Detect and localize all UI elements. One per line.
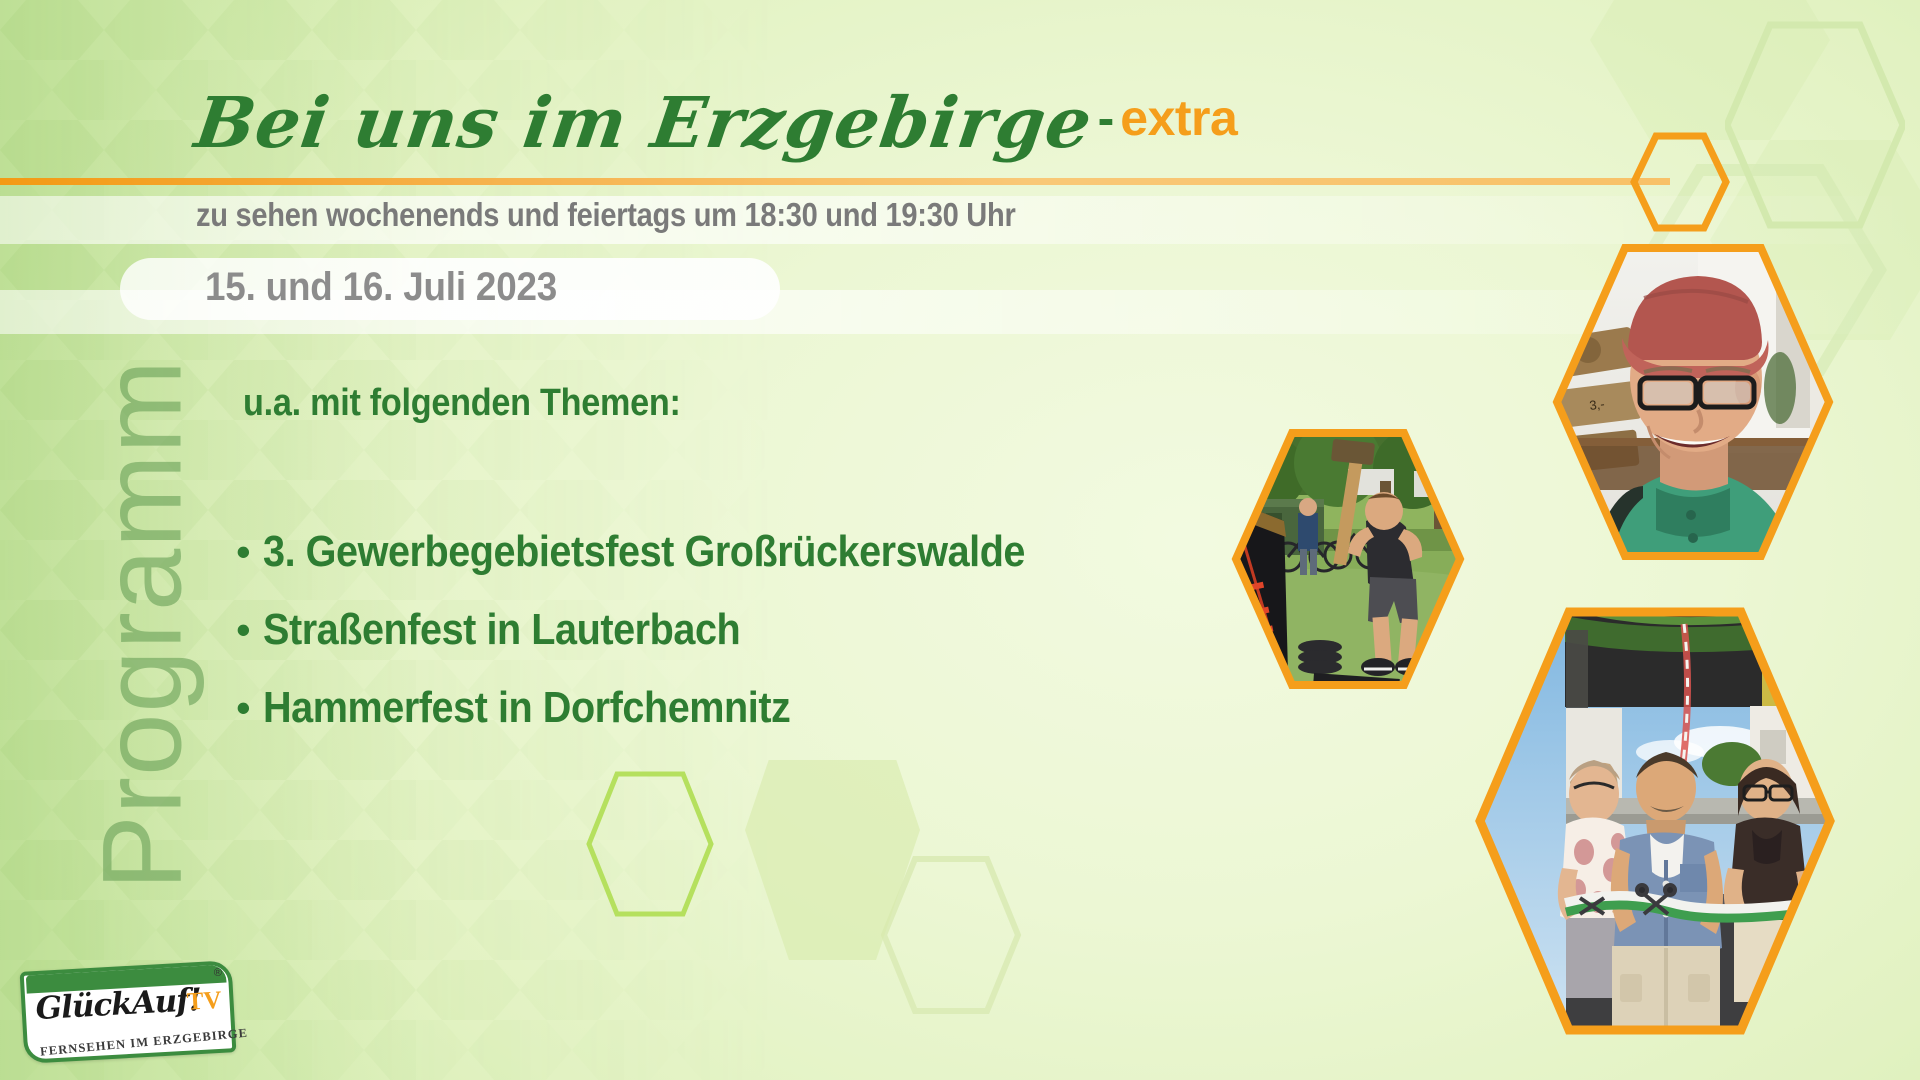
title-end-hexagon-icon — [1628, 130, 1732, 234]
broadcast-date: 15. und 16. Juli 2023 — [205, 265, 557, 310]
title-underline-rule — [0, 178, 1670, 185]
svg-text:3,-: 3,- — [1589, 396, 1606, 413]
list-item: • Hammerfest in Dorfchemnitz — [236, 683, 1109, 733]
photo-ribbon-cutting — [1470, 602, 1840, 1040]
topic-label: Hammerfest in Dorfchemnitz — [263, 683, 790, 733]
list-item: • 3. Gewerbegebietsfest Großrückerswalde — [236, 527, 1109, 577]
title-dash: - — [1092, 90, 1121, 146]
themes-heading: u.a. mit folgenden Themen: — [243, 382, 681, 425]
channel-logo[interactable]: ® GlückAuf! TV FERNSEHEN IM ERZGEBIRGE — [20, 960, 237, 1064]
logo-tv-suffix: TV — [186, 987, 222, 1017]
topic-label: Straßenfest in Lauterbach — [263, 605, 740, 655]
broadcast-times-subtitle: zu sehen wochenends und feiertags um 18:… — [196, 196, 1016, 234]
bullet-dot-icon: • — [236, 531, 251, 573]
topics-list: • 3. Gewerbegebietsfest Großrückerswalde… — [236, 527, 1109, 761]
page-title: Bei uns im Erzgebirge-extra — [196, 88, 1237, 158]
broadcast-program-slide: Programm Bei uns im Erzgebirge-extra zu … — [0, 0, 1920, 1080]
photo-hammer-strength-game: LUC — [1228, 425, 1468, 693]
photo-man-red-hat: 3,- — [1548, 238, 1838, 566]
vertical-section-label: Programm — [78, 305, 207, 945]
list-item: • Straßenfest in Lauterbach — [236, 605, 1109, 655]
registered-trademark-icon: ® — [214, 967, 223, 979]
title-main-text: Bei uns im Erzgebirge — [191, 88, 1096, 158]
bullet-dot-icon: • — [236, 609, 251, 651]
title-extra-text: extra — [1120, 90, 1237, 146]
topic-label: 3. Gewerbegebietsfest Großrückerswalde — [263, 527, 1025, 577]
bullet-dot-icon: • — [236, 687, 251, 729]
